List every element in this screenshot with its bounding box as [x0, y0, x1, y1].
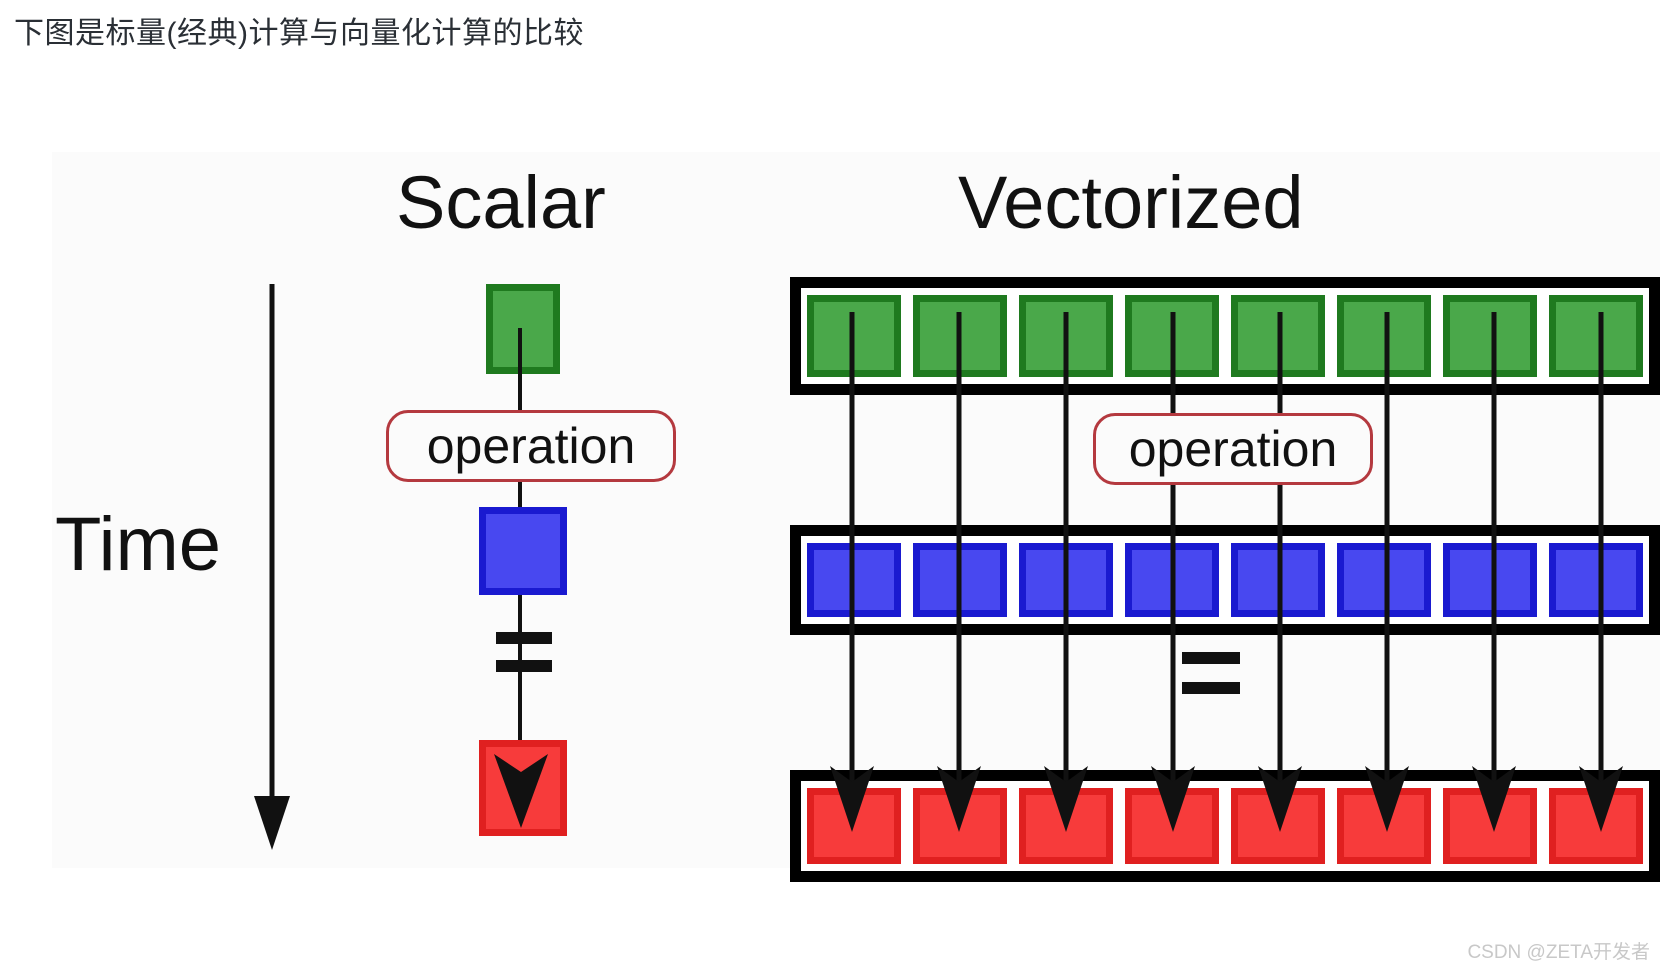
- vector-cell: [807, 295, 901, 377]
- scalar-equals-symbol: [496, 632, 552, 672]
- scalar-arrowhead-icon: [492, 748, 550, 828]
- vector-cell: [1443, 295, 1537, 377]
- vectorized-result-row: [790, 770, 1660, 882]
- vector-cell: [913, 543, 1007, 617]
- vectorized-operand-b-row: [790, 525, 1660, 635]
- vector-cell: [1019, 788, 1113, 864]
- comparison-figure: Scalar Vectorized Time operation: [52, 152, 1660, 868]
- vector-cell: [1019, 295, 1113, 377]
- vector-cell: [1337, 295, 1431, 377]
- scalar-operand-a-cell: [486, 284, 560, 374]
- vectorized-operation-label: operation: [1093, 413, 1373, 485]
- vectorized-operand-a-row: [790, 277, 1660, 395]
- vector-cell: [913, 295, 1007, 377]
- vector-cell: [1549, 295, 1643, 377]
- page-title: 下图是标量(经典)计算与向量化计算的比较: [14, 12, 584, 56]
- vectorized-equals-symbol: [1182, 652, 1240, 694]
- vector-cell: [1125, 295, 1219, 377]
- scalar-operand-b-cell: [479, 507, 567, 595]
- vector-cell: [1337, 788, 1431, 864]
- vector-cell: [1019, 543, 1113, 617]
- scalar-column-title: Scalar: [396, 166, 606, 240]
- vector-cell: [1549, 543, 1643, 617]
- vector-cell: [1231, 788, 1325, 864]
- vectorized-column-title: Vectorized: [958, 166, 1304, 240]
- vector-cell: [1549, 788, 1643, 864]
- vector-cell: [1443, 788, 1537, 864]
- vector-cell: [1337, 543, 1431, 617]
- vector-cell: [807, 788, 901, 864]
- vector-cell: [1231, 295, 1325, 377]
- vector-cell: [1125, 788, 1219, 864]
- time-axis-label: Time: [55, 507, 221, 583]
- vector-cell: [807, 543, 901, 617]
- scalar-operation-label: operation: [386, 410, 676, 482]
- vector-cell: [913, 788, 1007, 864]
- vector-cell: [1125, 543, 1219, 617]
- vector-cell: [1231, 543, 1325, 617]
- down-arrow-icon: [252, 284, 292, 850]
- csdn-watermark: CSDN @ZETA开发者: [1467, 937, 1650, 964]
- vector-cell: [1443, 543, 1537, 617]
